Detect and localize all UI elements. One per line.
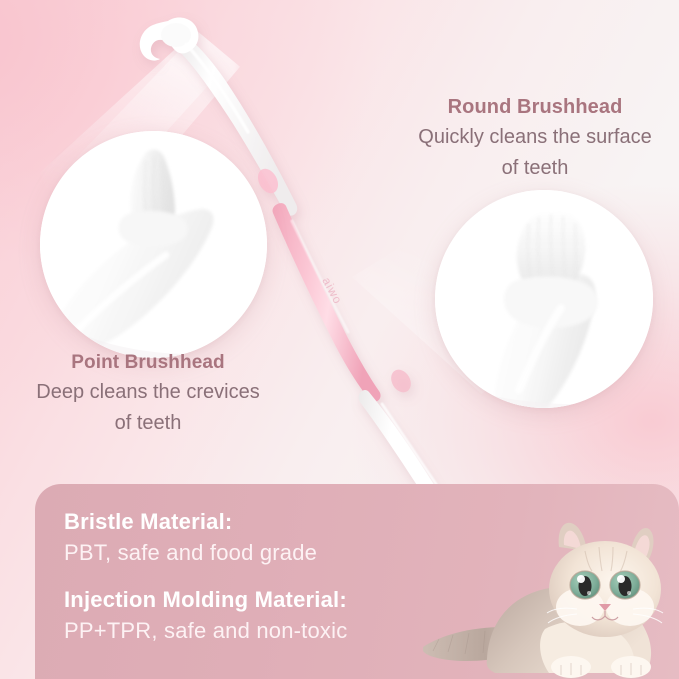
- spec-bristle-title: Bristle Material:: [64, 508, 679, 536]
- magnifier-point-brushhead: [40, 131, 267, 358]
- callout-round-brushhead: Round Brushhead Quickly cleans the surfa…: [399, 96, 671, 181]
- callout-point-line2: of teeth: [8, 410, 288, 436]
- callout-round-line1: Quickly cleans the surface: [399, 124, 671, 150]
- spec-injection-title: Injection Molding Material:: [64, 586, 679, 614]
- spec-bristle-value: PBT, safe and food grade: [64, 539, 679, 568]
- callout-round-heading: Round Brushhead: [399, 96, 671, 119]
- magnifier-round-brushhead: [435, 190, 653, 408]
- spec-injection-value: PP+TPR, safe and non-toxic: [64, 617, 679, 646]
- callout-point-brushhead: Point Brushhead Deep cleans the crevices…: [8, 352, 288, 436]
- spec-banner: Bristle Material: PBT, safe and food gra…: [35, 484, 679, 679]
- spec-rows: Bristle Material: PBT, safe and food gra…: [35, 484, 679, 645]
- infographic-canvas: aiwo: [0, 0, 679, 679]
- spec-row-injection: Injection Molding Material: PP+TPR, safe…: [64, 586, 679, 645]
- callout-point-heading: Point Brushhead: [8, 352, 288, 374]
- spec-row-bristle: Bristle Material: PBT, safe and food gra…: [64, 508, 679, 567]
- callout-point-line1: Deep cleans the crevices: [8, 379, 288, 405]
- callout-round-line2: of teeth: [399, 155, 671, 181]
